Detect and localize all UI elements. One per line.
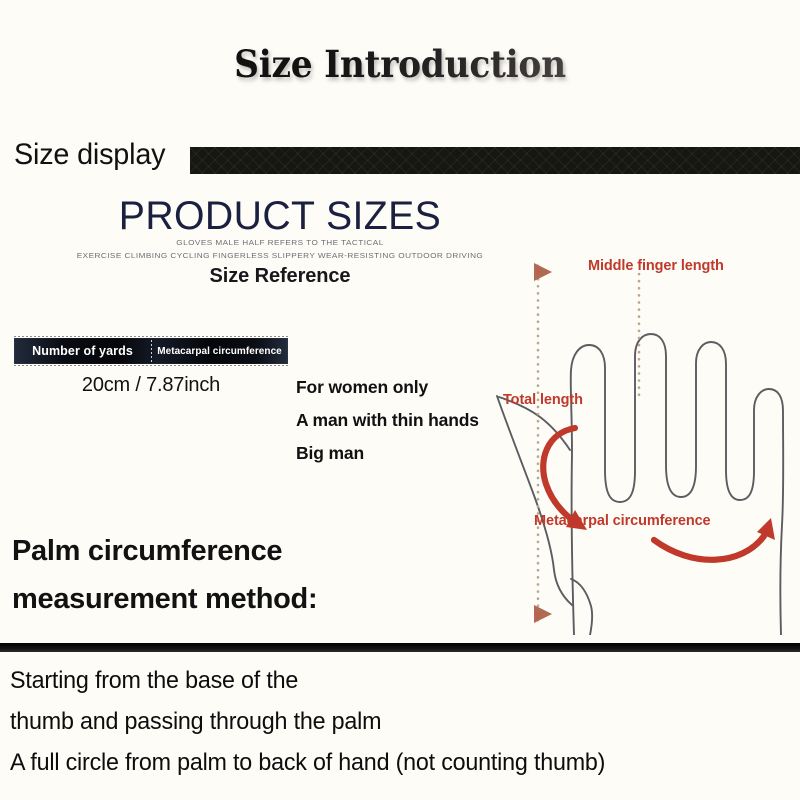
table-column-divider — [151, 340, 152, 362]
instruction-line: Starting from the base of the — [10, 660, 776, 701]
size-display-section: Size display — [0, 136, 800, 180]
table-header-row: Number of yards Metacarpal circumference — [14, 338, 288, 364]
palm-heading-line-1: Palm circumference — [12, 527, 532, 575]
column-header-number-of-yards: Number of yards — [14, 338, 151, 364]
palm-heading-line-2: measurement method: — [12, 575, 532, 623]
instruction-line: thumb and passing through the palm — [10, 701, 776, 742]
measurement-instructions: Starting from the base of the thumb and … — [10, 660, 800, 783]
page-title: Size Introduction — [28, 42, 772, 86]
product-sizes-heading: PRODUCT SIZES — [6, 196, 555, 237]
size-display-label: Size display — [14, 138, 165, 172]
palm-circumference-heading: Palm circumference measurement method: — [12, 527, 532, 623]
table-body: 20cm / 7.87inch — [14, 368, 288, 402]
product-subtitle-line-2: EXERCISE CLIMBING CYCLING FINGERLESS SLI… — [0, 250, 560, 262]
size-reference-table: Number of yards Metacarpal circumference… — [14, 338, 288, 364]
product-sizes-card: PRODUCT SIZES GLOVES MALE HALF REFERS TO… — [0, 196, 560, 288]
product-subtitle-line-1: GLOVES MALE HALF REFERS TO THE TACTICAL — [0, 237, 560, 249]
hand-outline-icon — [492, 250, 800, 635]
label-total-length: Total length — [503, 392, 583, 408]
hand-measurement-diagram: Middle finger length Total length Metaca… — [492, 250, 800, 635]
section-divider — [0, 643, 800, 652]
label-metacarpal-circumference: Metacarpal circumference — [534, 513, 711, 529]
instruction-line: A full circle from palm to back of hand … — [10, 742, 776, 783]
column-header-metacarpal-circumference: Metacarpal circumference — [151, 338, 288, 364]
size-guide-page: Size Introduction Size display PRODUCT S… — [0, 0, 800, 800]
size-display-decorative-bar — [190, 147, 800, 174]
label-middle-finger-length: Middle finger length — [588, 258, 724, 274]
size-reference-heading: Size Reference — [0, 265, 560, 288]
table-row: 20cm / 7.87inch — [14, 368, 288, 402]
